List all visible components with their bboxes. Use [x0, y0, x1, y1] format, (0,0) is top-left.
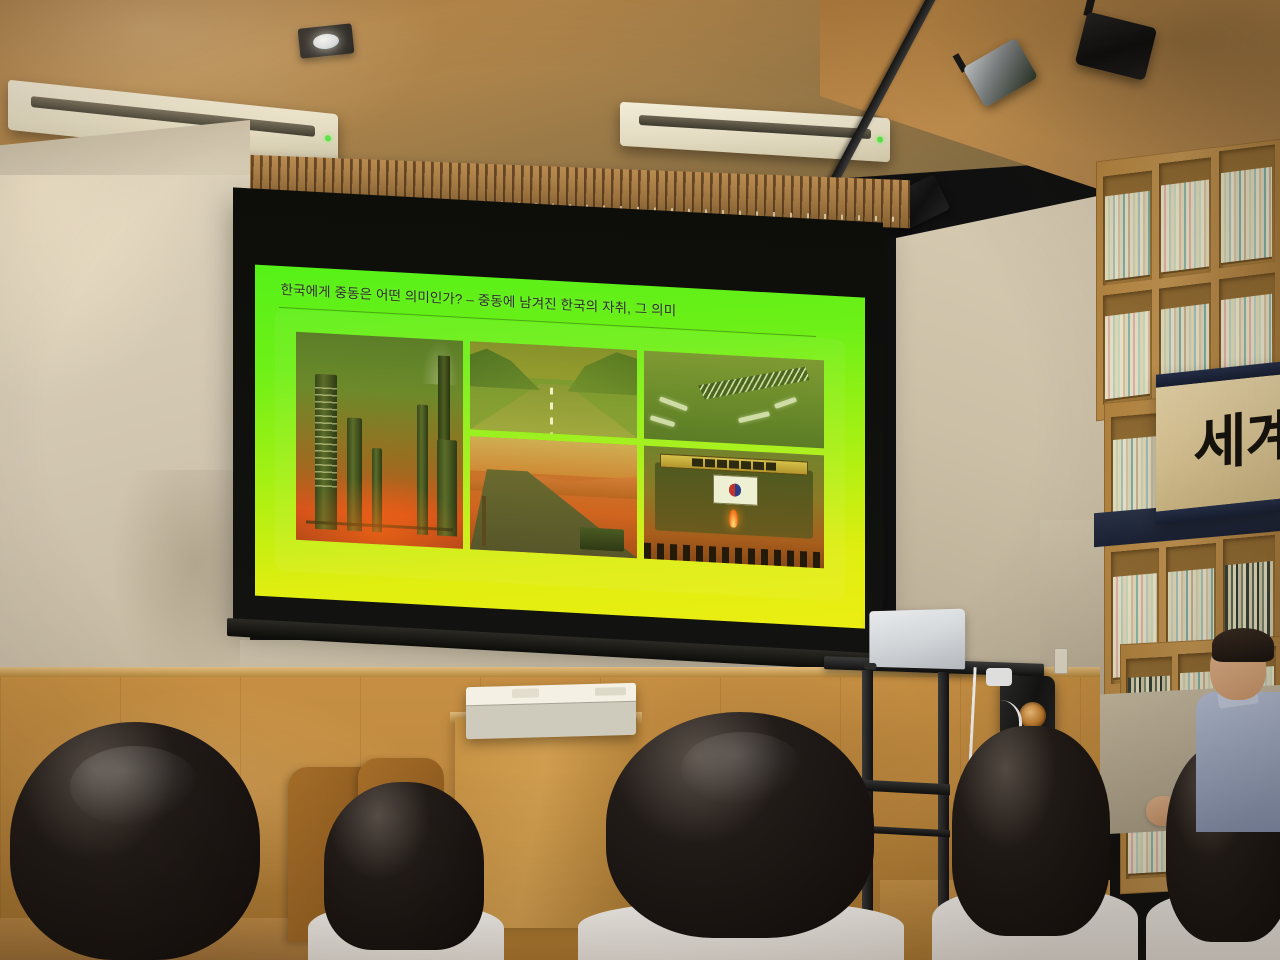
banner-text: 세계 — [1193, 406, 1280, 475]
boat — [658, 396, 687, 411]
construction-vehicle — [580, 527, 623, 552]
banner-glyph — [766, 463, 776, 471]
presentation-slide: 한국에게 중동은 어떤 의미인가? – 중동에 남겨진 한국의 자취, 그 의미 — [255, 265, 865, 629]
banner-glyph — [705, 459, 715, 467]
projector-seam — [466, 700, 636, 706]
audience-member-front-left — [10, 722, 260, 960]
shelf-cell — [1219, 145, 1275, 269]
hair-highlight — [70, 746, 200, 827]
naval-fleet-photo — [644, 350, 824, 448]
boat — [774, 397, 798, 409]
banner-glyph — [741, 461, 751, 469]
hair-highlight — [681, 732, 804, 806]
sunset-glow — [296, 331, 463, 549]
projection-screen: 한국에게 중동은 어떤 의미인가? – 중동에 남겨진 한국의 자취, 그 의미 — [233, 187, 883, 657]
ac-vent — [639, 115, 871, 139]
hair — [324, 782, 484, 950]
wall-outlet — [1054, 648, 1068, 674]
hill-left — [470, 344, 540, 391]
book-row — [1161, 180, 1209, 275]
banner-glyph — [753, 462, 763, 470]
boat — [649, 415, 675, 427]
silver-laptop[interactable] — [869, 609, 965, 670]
shelf-cell — [1103, 170, 1151, 285]
desert-construction-road-photo — [470, 436, 637, 558]
audience-member-center-left — [316, 782, 492, 960]
boat — [738, 411, 771, 423]
projector-vent — [595, 687, 626, 696]
book-row — [1105, 191, 1149, 282]
book-row — [1105, 311, 1149, 402]
ac-status-led — [325, 135, 331, 142]
hair — [952, 726, 1110, 936]
banner-glyph — [729, 461, 739, 469]
banner-glyph — [717, 460, 727, 468]
shelf-cell — [1159, 158, 1211, 279]
banner-body: 세계 — [1156, 374, 1280, 511]
banner-glyph — [692, 459, 702, 467]
projector-lens — [512, 688, 539, 698]
ceremonial-flame — [729, 509, 738, 528]
shelf-cell — [1103, 290, 1151, 405]
audience-member-right-center — [946, 726, 1122, 960]
speaker-driver — [1019, 702, 1046, 729]
ac-status-led — [877, 137, 883, 143]
book-row — [1221, 167, 1272, 265]
hair — [1212, 628, 1274, 662]
audience-member-center — [606, 712, 874, 960]
korean-flag-taegeukgi — [713, 474, 758, 506]
presenter — [1202, 630, 1280, 830]
ceremony-photo — [644, 446, 824, 569]
recessed-downlight-icon — [298, 23, 355, 58]
lecture-room-photograph: 세계 한국에게 중동은 어떤 의미인가? – 중동에 남겨진 한국의 자취, 그… — [0, 0, 1280, 960]
wall-banner: 세계 — [1156, 361, 1280, 524]
presenter-shirt — [1196, 692, 1280, 832]
slide-image-grid — [296, 331, 824, 568]
refinery-photo — [296, 331, 463, 549]
laptop-hinge — [864, 663, 876, 670]
roadside-pole — [482, 496, 486, 546]
desert-highway-photo — [470, 341, 637, 438]
hill-right — [567, 348, 637, 397]
